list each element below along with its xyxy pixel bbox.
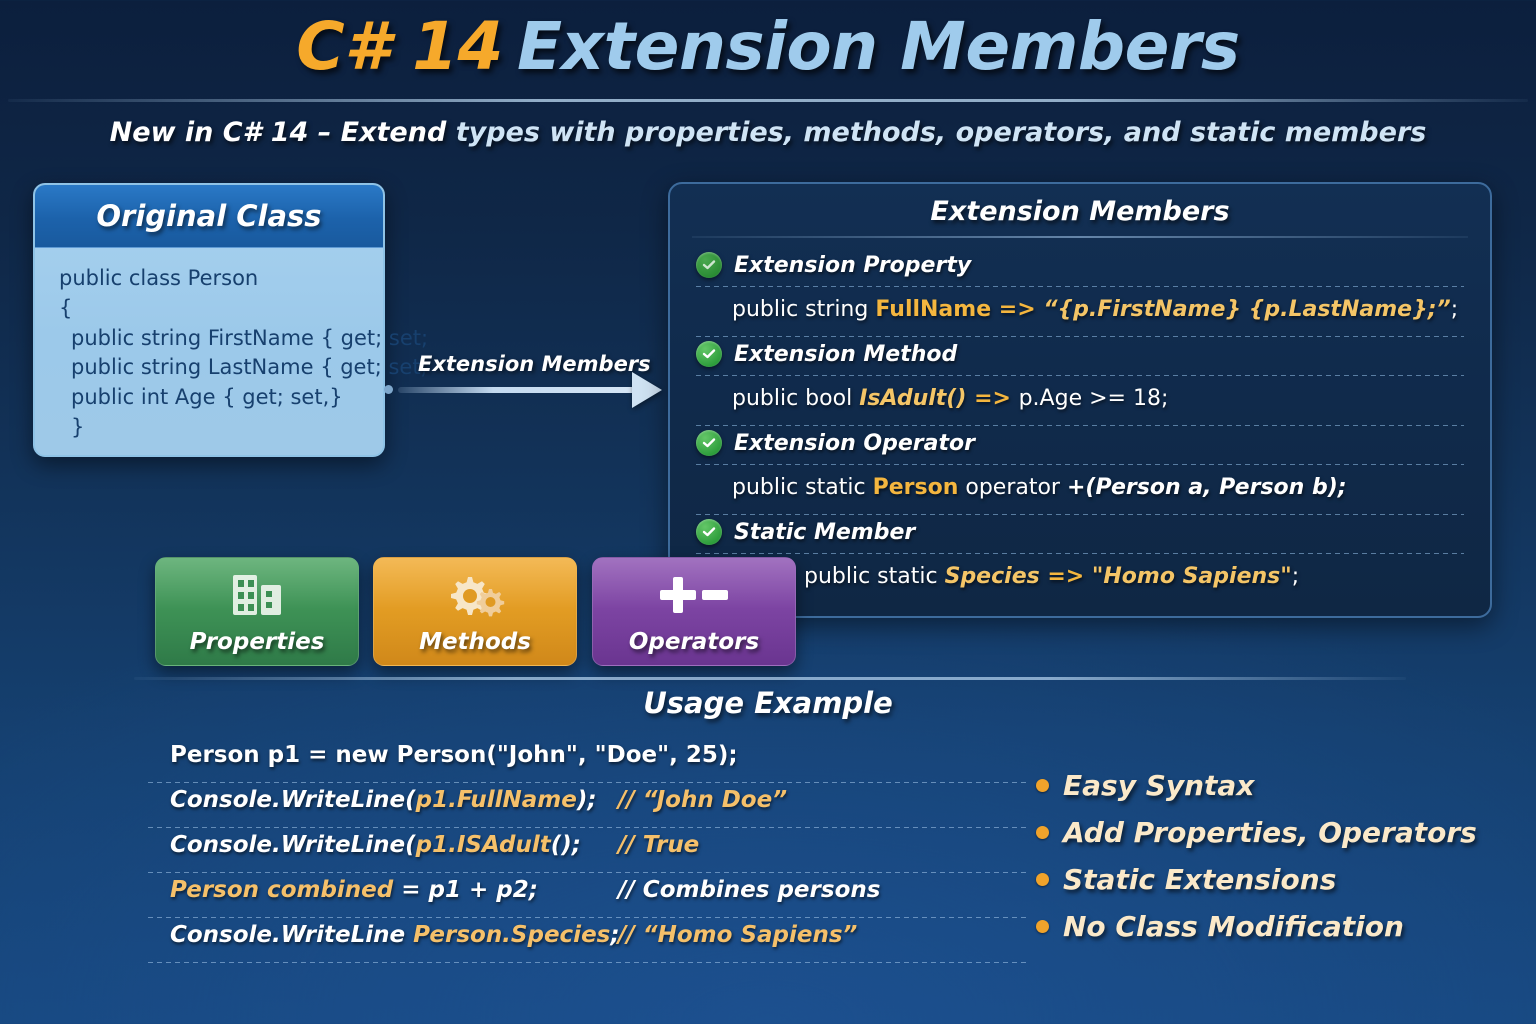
benefit-item: Static Extensions [1036,856,1496,903]
arrow-label: Extension Members [418,352,651,376]
row-divider [148,917,1028,918]
usage-row: Console.WriteLine(p1.ISAdult(); // True [148,830,1028,875]
extension-item-code: public static Person operator +(Person a… [696,465,1464,510]
usage-code-block: Person p1 = new Person("John", "Doe", 25… [148,740,1028,965]
title-main: Extension Members [517,8,1240,85]
code-line: public string FirstName { get; set; [59,324,383,354]
extension-panel-title: Extension Members [670,196,1490,227]
usage-row: Person p1 = new Person("John", "Doe", 25… [148,740,1028,785]
extension-item-label: Static Member [734,520,915,545]
buildings-icon [156,570,358,620]
category-card-label: Operators [593,629,795,655]
arrow-dot-icon [384,385,393,394]
extension-item-property[interactable]: Extension Property public string FullNam… [670,248,1490,337]
original-class-card: Original Class public class Person { pub… [33,183,385,457]
check-circle-icon [696,341,722,367]
check-circle-icon [696,252,722,278]
infographic-root: C# 14Extension Members New in C# 14 – Ex… [0,0,1536,1024]
usage-code-highlight: Person combined [170,877,393,903]
plus-minus-icon [593,570,795,620]
page-title: C# 14Extension Members [0,8,1536,85]
benefit-item: Easy Syntax [1036,762,1496,809]
benefit-item: No Class Modification [1036,903,1496,950]
benefit-label: Easy Syntax [1063,769,1254,802]
code-name: IsAdult() [859,386,966,411]
page-subtitle: New in C# 14 – Extend types with propert… [0,117,1536,148]
code-name: FullName [875,297,991,322]
extension-item-method[interactable]: Extension Method public bool IsAdult() =… [670,337,1490,426]
extension-item-operator[interactable]: Extension Operator public static Person … [670,426,1490,515]
usage-code-post: (); [551,832,581,858]
category-card-label: Methods [374,629,576,655]
benefits-list: Easy Syntax Add Properties, Operators St… [1036,762,1496,950]
subtitle-strong: New in C# 14 – Extend [110,117,447,148]
arrow-shaft [398,387,636,393]
usage-row: Console.WriteLine(p1.FullName); // “John… [148,785,1028,830]
usage-code-pre: Console.WriteLine( [170,787,416,813]
benefit-label: No Class Modification [1063,910,1404,943]
code-arrow: operator [958,475,1067,500]
category-card-methods[interactable]: Methods [373,557,577,666]
row-divider [148,962,1028,963]
check-circle-icon [696,430,722,456]
row-divider [148,827,1028,828]
usage-row: Console.WriteLine Person.Species; // “Ho… [148,920,1028,965]
benefit-item: Add Properties, Operators [1036,809,1496,856]
original-class-code: public class Person { public string Firs… [35,248,383,443]
bullet-icon [1036,826,1049,839]
usage-comment: // Combines persons [618,877,880,903]
bullet-icon [1036,920,1049,933]
usage-section-title: Usage Example [0,686,1536,720]
usage-code-pre: Console.WriteLine [170,922,413,948]
code-arrow: => [966,386,1018,411]
code-pre: public string [732,297,875,322]
code-line: public string LastName { get; set; [59,353,383,383]
usage-code-highlight: Person.Species [413,922,610,948]
category-card-operators[interactable]: Operators [592,557,796,666]
code-pre: public static [732,475,873,500]
row-divider [148,872,1028,873]
benefit-label: Static Extensions [1063,863,1336,896]
extension-item-code: public string FullName => “{p.FirstName}… [696,287,1464,332]
category-card-properties[interactable]: Properties [155,557,359,666]
extension-members-panel: Extension Members Extension Property pub… [668,182,1492,618]
code-name: Person [873,475,959,500]
code-value: “{p.FirstName} {p.LastName};” [1043,297,1450,322]
code-pre: public bool [732,386,859,411]
usage-code-post: ); [577,787,597,813]
usage-code-text: Person p1 = new Person("John", "Doe", 25… [170,742,738,768]
code-arrow: => [991,297,1043,322]
usage-comment: // “Homo Sapiens” [618,922,857,948]
extension-item-label: Extension Method [734,342,957,367]
bullet-icon [1036,779,1049,792]
code-value: p.Age >= 18; [1019,386,1169,411]
transform-arrow: Extension Members [384,352,674,412]
title-accent: C# 14 [296,8,503,85]
extension-item-code: public bool IsAdult() => p.Age >= 18; [696,376,1464,421]
gears-icon [374,570,576,620]
usage-divider [134,677,1406,680]
usage-comment: // “John Doe” [618,787,787,813]
usage-code-highlight: p1.ISAdult [416,832,551,858]
usage-code-post: = p1 + p2; [393,877,538,903]
usage-code-pre: Console.WriteLine( [170,832,416,858]
category-card-label: Properties [156,629,358,655]
code-line: public int Age { get; set,} [59,383,383,413]
row-divider [148,782,1028,783]
benefit-label: Add Properties, Operators [1063,816,1477,849]
code-line: public class Person [59,264,383,294]
code-line: { [59,294,383,324]
extension-item-label: Extension Property [734,253,971,278]
original-class-title: Original Class [96,199,321,233]
extension-items-list: Extension Property public string FullNam… [670,238,1490,599]
usage-row: Person combined = p1 + p2; // Combines p… [148,875,1028,920]
usage-comment: // True [618,832,699,858]
original-class-header: Original Class [35,185,383,248]
code-line: } [59,413,383,443]
subtitle-soft: types with properties, methods, operator… [446,117,1426,148]
extension-item-label: Extension Operator [734,431,975,456]
check-circle-icon [696,519,722,545]
bullet-icon [1036,873,1049,886]
code-post: ; [1451,297,1458,322]
title-divider [8,99,1528,102]
arrow-head-icon [632,372,662,408]
category-cards: Properties [0,557,1536,672]
usage-code-highlight: p1.FullName [416,787,577,813]
code-value: +(Person a, Person b); [1067,475,1347,500]
